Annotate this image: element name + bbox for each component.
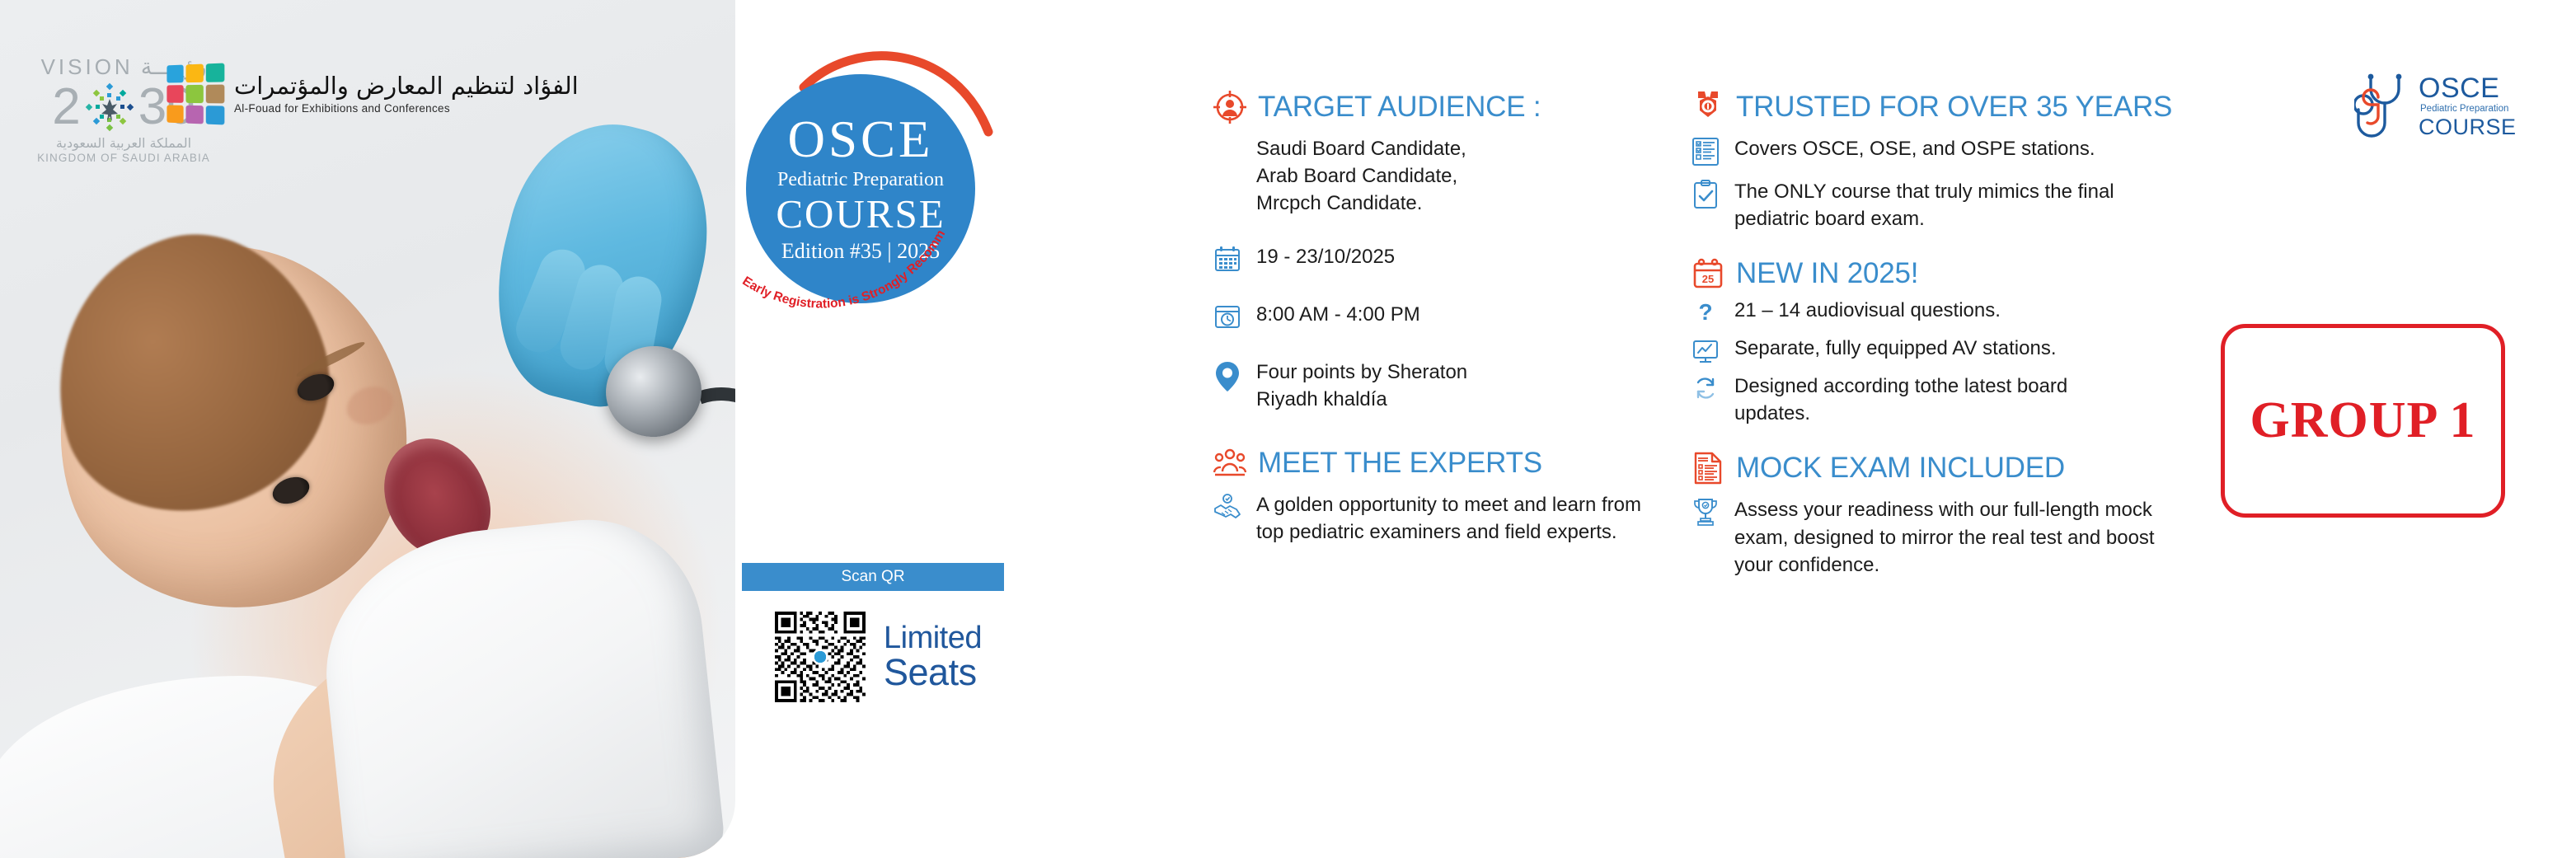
refresh-sync-icon — [1692, 374, 1720, 404]
trusted-item-2: The ONLY course that truly mimics the fi… — [1734, 178, 2122, 232]
kingdom-arabic: المملكة العربية السعودية — [25, 135, 223, 151]
course-time-text: 8:00 AM - 4:00 PM — [1256, 301, 1420, 328]
qr-row: Limited Seats — [775, 612, 982, 702]
meet-experts-body-row: A golden opportunity to meet and learn f… — [1213, 491, 1675, 546]
group-badge: GROUP 1 — [2221, 324, 2505, 518]
calendar-icon — [1213, 245, 1241, 274]
venue-row: Four points by Sheraton Riyadh khaldía — [1213, 359, 1675, 413]
svg-text:25: 25 — [1702, 273, 1714, 285]
new-2025-item-1: 21 – 14 audiovisual questions. — [1734, 297, 2001, 324]
al-fouad-logo: الفؤاد لتنظيم المعارض والمؤتمرات Al-Foua… — [165, 64, 579, 124]
handshake-icon — [1213, 493, 1241, 523]
badge-subtitle: Pediatric Preparation — [777, 169, 944, 191]
course-date-row: 19 - 23/10/2025 — [1213, 243, 1675, 274]
meet-experts-body: A golden opportunity to meet and learn f… — [1256, 491, 1652, 546]
mock-exam-body-row: Assess your readiness with our full-leng… — [1692, 496, 2211, 578]
badge-edition-text: Edition #35 | 2025 — [781, 239, 940, 264]
new-2025-item-3: Designed according tothe latest board up… — [1734, 373, 2081, 427]
osce-logo-tagline: Pediatric Preparation — [2420, 105, 2508, 115]
scan-qr-label: Scan QR — [841, 568, 904, 586]
new-2025-item-2-row: Separate, fully equipped AV stations. — [1692, 335, 2211, 366]
mock-exam-body: Assess your readiness with our full-leng… — [1734, 496, 2163, 578]
trusted-item-1-row: Covers OSCE, OSE, and OSPE stations. — [1692, 135, 2211, 166]
trusted-item-2-row: The ONLY course that truly mimics the fi… — [1692, 178, 2211, 232]
vision-word-en: VISION — [41, 54, 134, 80]
calendar-25-icon: 25 — [1692, 257, 1724, 290]
limited-word: Limited — [884, 623, 982, 654]
location-pin-icon — [1213, 360, 1241, 390]
osce-course-logo: OSCE Pediatric Preparation COURSE — [2354, 73, 2517, 140]
column-course-features: TRUSTED FOR OVER 35 YEARS — [1692, 91, 2211, 579]
column-target-audience: TARGET AUDIENCE : Saudi Board Candidate,… — [1213, 91, 1675, 546]
baby-shirt — [312, 509, 725, 858]
fouad-english: Al-Fouad for Exhibitions and Conferences — [234, 102, 579, 115]
osce-logo-words: OSCE Pediatric Preparation COURSE — [2419, 74, 2517, 138]
vision-num-left: 2 — [52, 83, 80, 132]
flyer-root: VISION رؤيــــة 2 — [0, 0, 2576, 858]
group-badge-label: GROUP 1 — [2250, 391, 2476, 450]
osce-logo-name: OSCE — [2419, 74, 2499, 102]
limited-seats-text: Limited Seats — [884, 623, 982, 690]
new-2025-item-3-row: Designed according tothe latest board up… — [1692, 373, 2211, 427]
fouad-grid-icon — [167, 63, 224, 125]
clock-icon — [1213, 302, 1241, 332]
question-mark-icon: ? — [1692, 298, 1720, 328]
stethoscope-icon — [2354, 73, 2415, 140]
trusted-title: TRUSTED FOR OVER 35 YEARS — [1736, 91, 2172, 124]
fouad-arabic: الفؤاد لتنظيم المعارض والمؤتمرات — [234, 74, 579, 98]
osce-logo-course: COURSE — [2419, 116, 2517, 138]
badge-course-text: COURSE — [776, 193, 945, 235]
checklist-icon — [1692, 137, 1720, 166]
badge-circle: OSCE Pediatric Preparation COURSE Editio… — [746, 74, 975, 303]
target-audience-icon — [1213, 91, 1246, 124]
new-2025-item-1-row: ? 21 – 14 audiovisual questions. — [1692, 297, 2211, 328]
trophy-icon — [1692, 498, 1720, 527]
kingdom-english: KINGDOM OF SAUDI ARABIA — [25, 152, 223, 164]
meet-experts-title: MEET THE EXPERTS — [1258, 447, 1542, 480]
clipboard-check-icon — [1692, 180, 1720, 209]
new-2025-title: NEW IN 2025! — [1736, 257, 1918, 290]
venue-text: Four points by Sheraton Riyadh khaldía — [1256, 359, 1467, 413]
svg-text:?: ? — [1698, 299, 1712, 325]
new-2025-heading: 25 NEW IN 2025! — [1692, 257, 2211, 290]
trusted-heading: TRUSTED FOR OVER 35 YEARS — [1692, 91, 2211, 124]
qr-code[interactable] — [775, 612, 866, 702]
fouad-text: الفؤاد لتنظيم المعارض والمؤتمرات Al-Foua… — [234, 74, 579, 115]
target-audience-heading: TARGET AUDIENCE : — [1213, 91, 1675, 124]
mandala-icon — [83, 81, 136, 134]
scan-qr-banner[interactable]: Scan QR — [742, 563, 1004, 591]
mock-exam-title: MOCK EXAM INCLUDED — [1736, 452, 2065, 485]
badge-osce-text: OSCE — [787, 114, 933, 166]
new-2025-item-2: Separate, fully equipped AV stations. — [1734, 335, 2056, 362]
exam-document-icon — [1692, 452, 1724, 485]
seats-word: Seats — [884, 654, 982, 691]
course-date-text: 19 - 23/10/2025 — [1256, 243, 1395, 270]
meet-experts-heading: MEET THE EXPERTS — [1213, 447, 1675, 480]
medal-icon — [1692, 91, 1724, 124]
trusted-item-1: Covers OSCE, OSE, and OSPE stations. — [1734, 135, 2095, 162]
people-group-icon — [1213, 447, 1246, 480]
course-time-row: 8:00 AM - 4:00 PM — [1213, 301, 1675, 332]
mock-exam-heading: MOCK EXAM INCLUDED — [1692, 452, 2211, 485]
monitor-icon — [1692, 336, 1720, 366]
osce-course-badge: OSCE Pediatric Preparation COURSE Editio… — [730, 36, 993, 316]
target-audience-list: Saudi Board Candidate, Arab Board Candid… — [1256, 135, 1675, 217]
target-audience-title: TARGET AUDIENCE : — [1258, 91, 1541, 124]
